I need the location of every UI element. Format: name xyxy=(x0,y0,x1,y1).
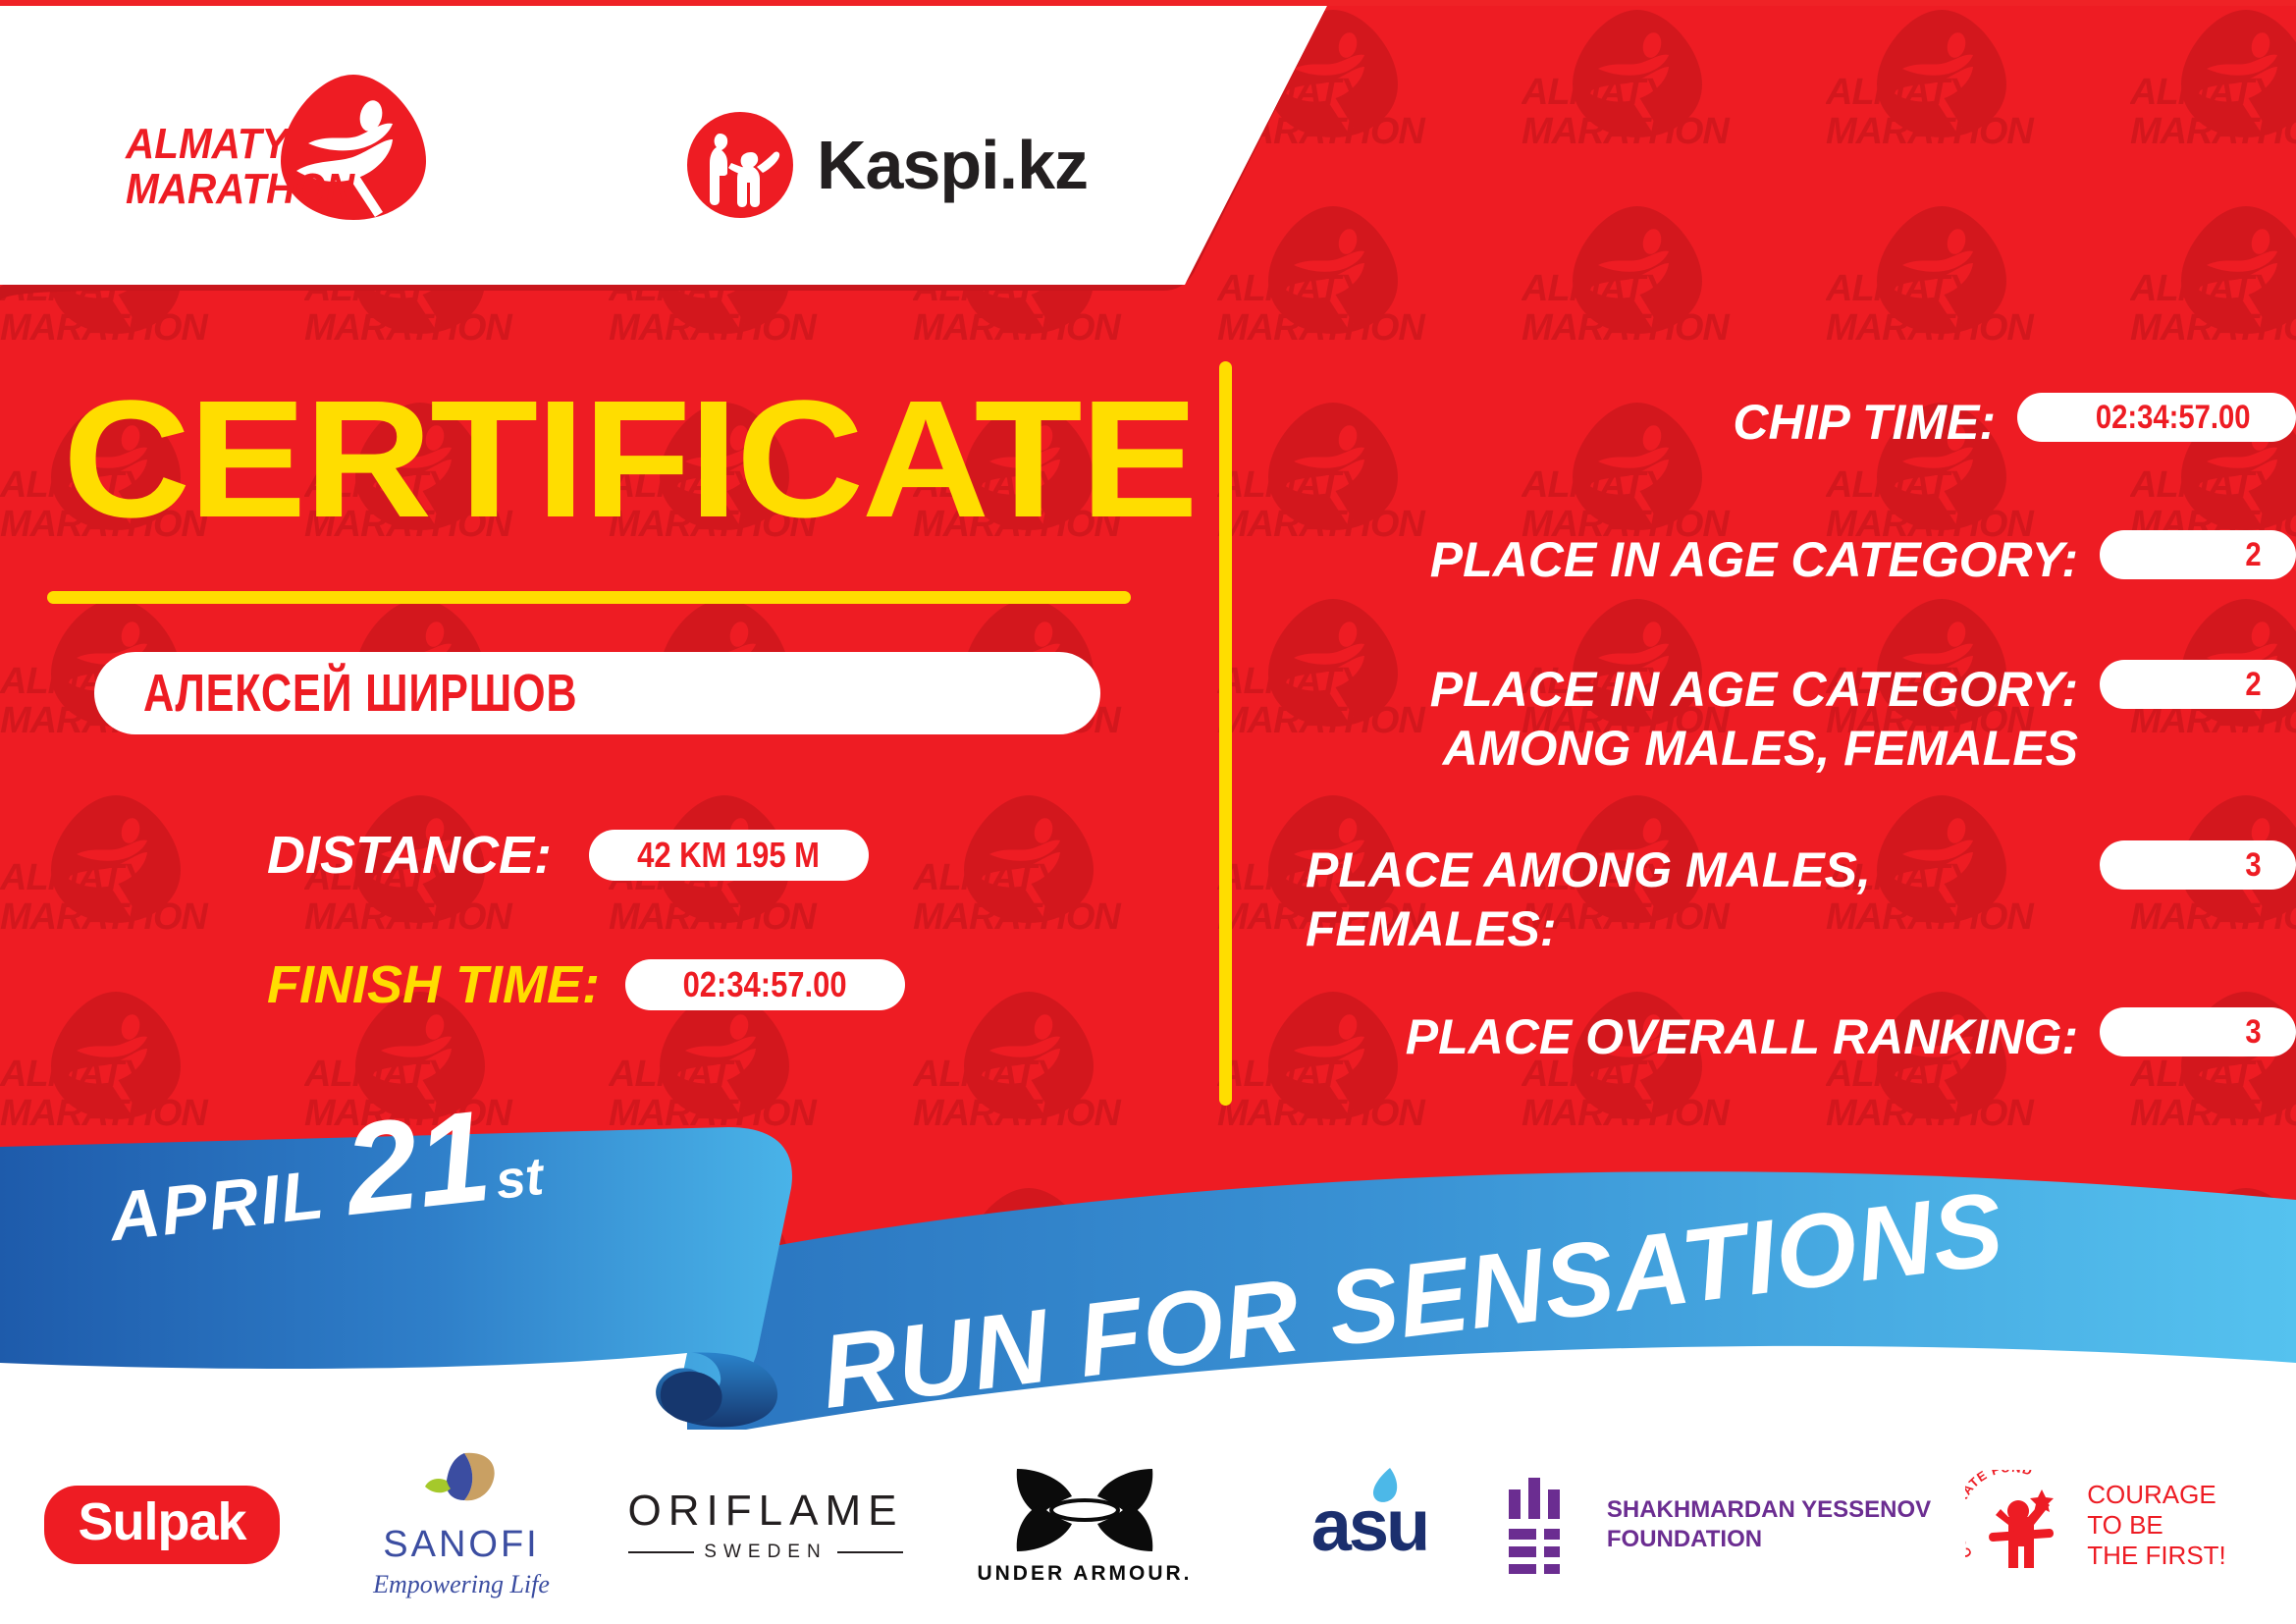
place-age-category-pill: 2 xyxy=(2100,530,2296,579)
place-among-gender-pill: 3 xyxy=(2100,840,2296,890)
certificate-header: ALMATYMARATHON Kaspi.kz xyxy=(0,6,1335,285)
event-date-day: 21 xyxy=(342,1111,495,1215)
place-overall-pill: 3 xyxy=(2100,1007,2296,1056)
athlete-name-pill: АЛЕКСЕЙ ШИРШОВ xyxy=(94,652,1100,734)
chip-time-value: 02:34:57.00 xyxy=(2095,399,2250,437)
oriflame-sub-wordmark: SWEDEN xyxy=(704,1542,827,1563)
place-among-gender-value: 3 xyxy=(2245,846,2261,885)
stat-row-place-age-category-gender: PLACE IN AGE CATEGORY: AMONG MALES, FEMA… xyxy=(1296,660,2296,778)
yessenov-mark-icon xyxy=(1505,1476,1585,1574)
sponsor-courage-fund: CORPORATE FUND COURAGE TO BE THE FIRST! xyxy=(1934,1456,2258,1594)
sanofi-tagline: Empowering Life xyxy=(373,1570,550,1599)
place-age-category-value: 2 xyxy=(2245,536,2261,574)
oriflame-rule-right xyxy=(837,1551,904,1553)
place-among-gender-label: PLACE AMONG MALES, FEMALES: xyxy=(1296,840,2100,958)
sulpak-logo: Sulpak xyxy=(44,1486,279,1564)
finish-time-label: FINISH TIME: xyxy=(267,954,600,1015)
place-overall-value: 3 xyxy=(2245,1013,2261,1052)
distance-value-pill: 42 KM 195 M xyxy=(589,830,869,881)
courage-fund-wordmark: COURAGE TO BE THE FIRST! xyxy=(2087,1480,2226,1571)
kaspi-family-circle-icon xyxy=(687,112,793,218)
kaspi-logo: Kaspi.kz xyxy=(687,112,1088,218)
sanofi-wordmark: SANOFI xyxy=(383,1524,539,1566)
athlete-name: АЛЕКСЕЙ ШИРШОВ xyxy=(143,663,577,724)
place-age-category-gender-value: 2 xyxy=(2245,666,2261,704)
almaty-line-2: MARATHON xyxy=(126,165,354,213)
almaty-line-1: ALMATY xyxy=(126,120,289,168)
page-title: CERTIFICATE xyxy=(63,376,1197,543)
stat-row-place-age-category: PLACE IN AGE CATEGORY: 2 xyxy=(1296,530,2296,589)
under-armour-wordmark: UNDER ARMOUR. xyxy=(977,1562,1192,1586)
yessenov-wordmark: SHAKHMARDAN YESSENOV FOUNDATION xyxy=(1607,1495,1931,1554)
distance-value: 42 KM 195 M xyxy=(638,835,821,876)
distance-label: DISTANCE: xyxy=(267,825,552,886)
stat-row-place-overall: PLACE OVERALL RANKING: 3 xyxy=(1296,1007,2296,1066)
finish-time-value: 02:34:57.00 xyxy=(683,964,847,1005)
oriflame-wordmark: ORIFLAME xyxy=(628,1487,904,1536)
sponsor-asu: asu xyxy=(1237,1456,1502,1594)
distance-row: DISTANCE: 42 KM 195 M xyxy=(267,825,869,886)
place-age-category-label: PLACE IN AGE CATEGORY: xyxy=(1296,530,2100,589)
sanofi-mark-icon xyxy=(419,1451,504,1520)
courage-fund-mark-icon: CORPORATE FUND xyxy=(1965,1470,2075,1580)
asu-droplet-icon xyxy=(1366,1466,1400,1505)
sponsor-sanofi: SANOFI Empowering Life xyxy=(324,1456,599,1594)
sponsor-oriflame: ORIFLAME SWEDEN xyxy=(599,1456,933,1594)
stat-row-place-among-gender: PLACE AMONG MALES, FEMALES: 3 xyxy=(1296,840,2296,958)
under-armour-mark-icon xyxy=(1011,1465,1158,1555)
place-age-category-gender-pill: 2 xyxy=(2100,660,2296,709)
sponsor-under-armour: UNDER ARMOUR. xyxy=(933,1456,1237,1594)
certificate-canvas: ALMATY MARATHON ALMATYMARATHO xyxy=(0,0,2296,1624)
finish-time-row: FINISH TIME: 02:34:57.00 xyxy=(267,954,905,1015)
place-overall-label: PLACE OVERALL RANKING: xyxy=(1296,1007,2100,1066)
chip-time-label: CHIP TIME: xyxy=(1296,393,2017,452)
sponsor-yessenov-foundation: SHAKHMARDAN YESSENOV FOUNDATION xyxy=(1502,1456,1934,1594)
sponsor-bar: Sulpak SANOFI Empowering Life ORIFLAME S… xyxy=(0,1420,2296,1624)
title-divider xyxy=(47,591,1131,604)
stat-row-chip-time: CHIP TIME: 02:34:57.00 xyxy=(1296,393,2296,452)
event-date-suffix: st xyxy=(493,1146,546,1212)
finish-time-value-pill: 02:34:57.00 xyxy=(625,959,905,1010)
almaty-marathon-wordmark: ALMATYMARATHON xyxy=(126,122,354,212)
column-divider xyxy=(1219,361,1232,1106)
almaty-marathon-logo: ALMATYMARATHON xyxy=(126,67,440,224)
kaspi-wordmark: Kaspi.kz xyxy=(817,126,1088,204)
oriflame-rule-left xyxy=(628,1551,695,1553)
place-age-category-gender-label: PLACE IN AGE CATEGORY: AMONG MALES, FEMA… xyxy=(1296,660,2100,778)
chip-time-pill: 02:34:57.00 xyxy=(2017,393,2296,442)
sponsor-sulpak: Sulpak xyxy=(0,1456,324,1594)
